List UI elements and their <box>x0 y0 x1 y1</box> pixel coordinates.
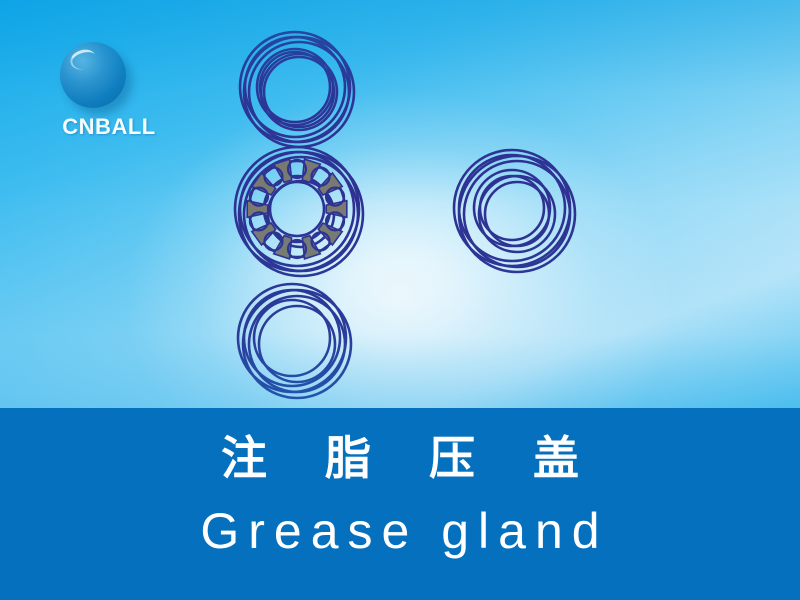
bore-circle <box>270 182 324 236</box>
ring-0 <box>454 150 570 266</box>
ring-2 <box>257 49 333 125</box>
ring-3 <box>260 52 330 122</box>
caption-english: Grease gland <box>0 506 800 556</box>
sphere-icon <box>60 42 126 108</box>
brand-logo: CNBALL <box>44 42 174 147</box>
bearing-ball <box>264 232 282 250</box>
ring-2 <box>254 300 330 376</box>
ring-3 <box>480 176 544 240</box>
ring-outline-bottom <box>238 284 351 398</box>
illustration-stage: CNBALL <box>0 0 800 408</box>
bearing-ball <box>264 168 282 186</box>
caption-chinese: 注脂压盖 <box>0 434 800 483</box>
brand-name: CNBALL <box>44 114 174 140</box>
ring-outline-right <box>454 150 575 272</box>
bearing-ball <box>312 168 330 186</box>
slide-canvas: CNBALL 注脂压盖 Grease gland <box>0 0 800 600</box>
ball-bearing-assembly <box>235 147 363 276</box>
caption-band: 注脂压盖 Grease gland <box>0 408 800 600</box>
ring-outline-top <box>240 32 354 147</box>
